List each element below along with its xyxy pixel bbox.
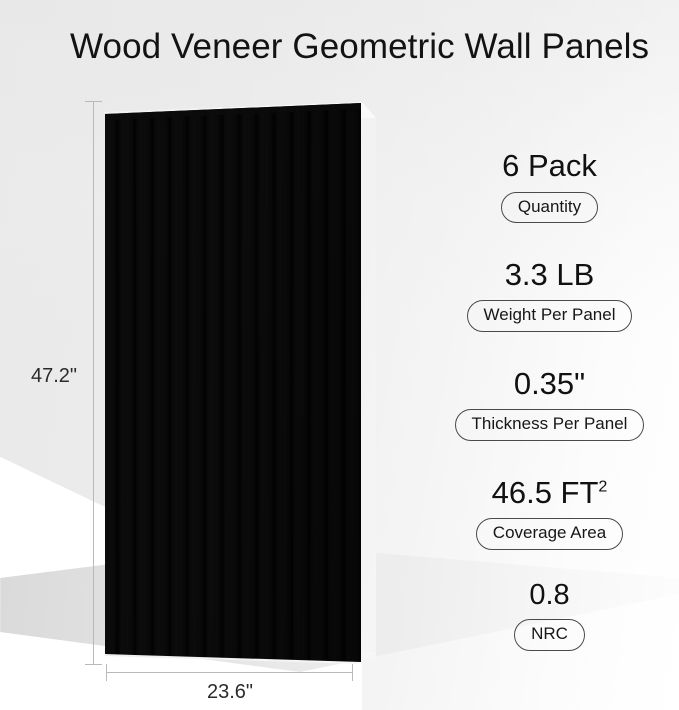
spec-weight: 3.3 LB Weight Per Panel [420, 259, 679, 332]
spec-thickness: 0.35" Thickness Per Panel [420, 368, 679, 441]
height-dimension-cap-bottom [85, 664, 102, 665]
spec-list: 6 Pack Quantity 3.3 LB Weight Per Panel … [420, 150, 679, 651]
spec-value-coverage: 46.5 FT2 [492, 477, 608, 510]
spec-value-thickness: 0.35" [514, 368, 585, 401]
spec-value-weight: 3.3 LB [505, 259, 595, 292]
spec-coverage: 46.5 FT2 Coverage Area [420, 477, 679, 550]
spec-quantity: 6 Pack Quantity [420, 150, 679, 223]
product-image [100, 96, 390, 676]
spec-value-nrc: 0.8 [529, 580, 569, 610]
spec-value-coverage-exponent: 2 [598, 477, 607, 495]
width-dimension-line [106, 672, 352, 673]
panel-wood-grain [100, 96, 390, 676]
spec-label-coverage: Coverage Area [476, 518, 623, 549]
page-title: Wood Veneer Geometric Wall Panels [70, 27, 649, 67]
spec-label-nrc: NRC [514, 619, 585, 650]
spec-value-coverage-main: 46.5 FT [492, 475, 599, 510]
height-dimension-line [93, 101, 94, 665]
width-dimension-cap-right [352, 664, 353, 681]
spec-label-quantity: Quantity [501, 192, 598, 223]
spec-label-thickness: Thickness Per Panel [455, 409, 645, 440]
height-dimension-label: 47.2" [31, 365, 77, 388]
product-infographic: Wood Veneer Geometric Wall Panels 47.2" … [0, 0, 679, 710]
spec-label-weight: Weight Per Panel [467, 300, 633, 331]
spec-nrc: 0.8 NRC [420, 580, 679, 651]
width-dimension-label: 23.6" [0, 681, 460, 704]
spec-value-quantity: 6 Pack [502, 150, 597, 183]
